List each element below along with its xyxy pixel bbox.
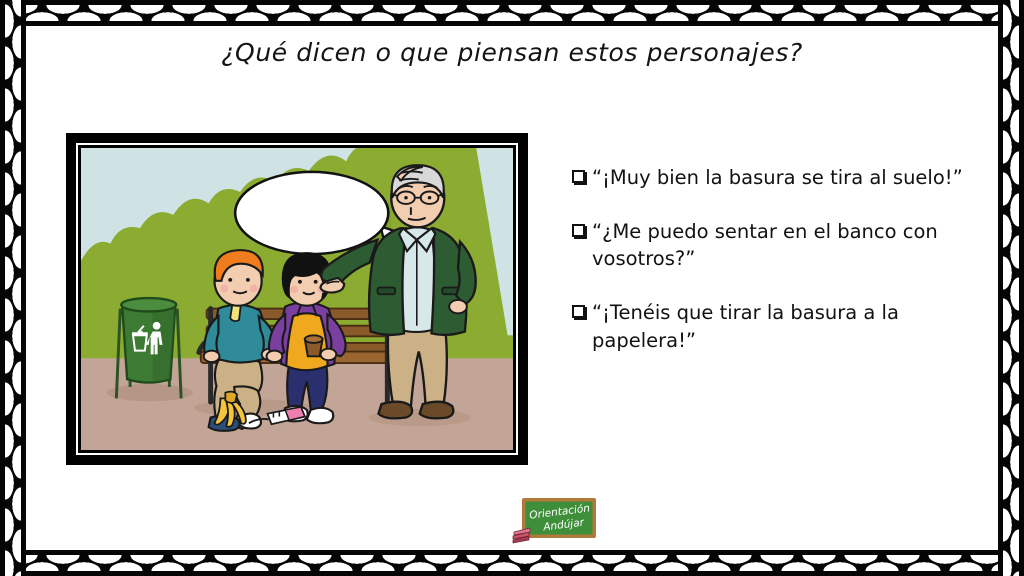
checkbox-square-icon[interactable] (572, 224, 585, 237)
statement-list: “¡Muy bien la basura se tira al suelo!” … (572, 164, 968, 380)
list-item-label: “¿Me puedo sentar en el banco con vosotr… (592, 218, 968, 273)
logo-books-icon (513, 528, 530, 543)
park-scene-illustration (81, 148, 513, 450)
orientacion-andujar-logo[interactable]: Orientación Andújar (512, 496, 598, 544)
decorative-border-bottom (0, 550, 1024, 576)
picture-frame-inner-matte (76, 143, 518, 455)
boy-left-hand (204, 351, 220, 362)
checkbox-square-icon[interactable] (572, 305, 585, 318)
page-title: ¿Qué dicen o que piensan estos personaje… (0, 38, 1024, 67)
girl-right-hand (321, 349, 337, 360)
picture-frame (66, 133, 528, 465)
list-item[interactable]: “¡Tenéis que tirar la basura a la papele… (572, 299, 968, 354)
slide-canvas: ¿Qué dicen o que piensan estos personaje… (0, 0, 1024, 576)
decorative-border-left (0, 0, 26, 576)
girl-left-hand (267, 351, 283, 362)
decorative-border-top (0, 0, 1024, 26)
illustration-image (81, 148, 513, 450)
list-item[interactable]: “¡Muy bien la basura se tira al suelo!” (572, 164, 968, 192)
list-item[interactable]: “¿Me puedo sentar en el banco con vosotr… (572, 218, 968, 273)
list-item-label: “¡Tenéis que tirar la basura a la papele… (592, 299, 968, 354)
logo-chalkboard-icon: Orientación Andújar (512, 496, 598, 544)
checkbox-square-icon[interactable] (572, 170, 585, 183)
decorative-border-right (998, 0, 1024, 576)
list-item-label: “¡Muy bien la basura se tira al suelo!” (592, 164, 963, 192)
